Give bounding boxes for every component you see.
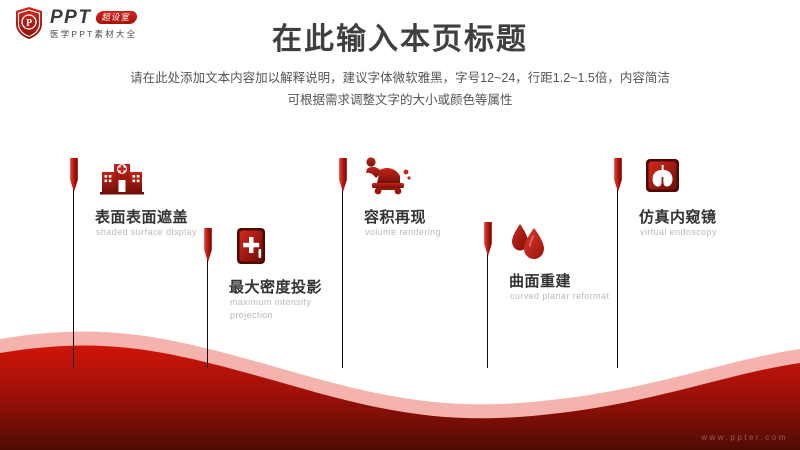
map-pin-icon (203, 228, 213, 262)
feature-label-en-line1: volume rendering (365, 226, 475, 239)
medical-kit-icon (233, 226, 279, 266)
map-pin-icon (483, 222, 493, 256)
feature-label-en: shaded surface display (96, 226, 206, 239)
wave-decoration (0, 315, 800, 450)
page-title: 在此输入本页标题 (0, 14, 800, 58)
feature-label-en: maximum intensity projection (230, 296, 340, 322)
feature-label-en: curved planar reformat (510, 290, 640, 303)
feature-label-en-line2: projection (230, 309, 340, 322)
feature-label-en: volume rendering (365, 226, 475, 239)
subtitle-line-1: 请在此处添加文本内容加以解释说明，建议字体微软雅黑，字号12~24，行距1.2~… (0, 68, 800, 90)
map-pin-icon (338, 158, 348, 192)
map-pin-icon (613, 158, 623, 192)
hospital-building-icon (99, 158, 145, 198)
ct-scanner-patient-icon (362, 156, 408, 196)
feature-label-en: virtual endoscopy (640, 226, 750, 239)
feature-label-cn: 表面表面遮盖 (95, 206, 188, 227)
subtitle-line-2: 可根据需求调整文字的大小或颜色等属性 (0, 90, 800, 112)
page-subtitle: 请在此处添加文本内容加以解释说明，建议字体微软雅黑，字号12~24，行距1.2~… (0, 68, 800, 112)
feature-label-en-line1: shaded surface display (96, 226, 206, 239)
feature-label-cn: 容积再现 (364, 206, 426, 227)
map-pin-icon (69, 158, 79, 192)
feature-label-cn: 最大密度投影 (229, 276, 322, 297)
feature-label-en-line1: curved planar reformat (510, 290, 640, 303)
feature-label-en-line1: virtual endoscopy (640, 226, 750, 239)
site-watermark: www.ppter.com (701, 433, 788, 442)
lungs-icon (643, 156, 689, 196)
feature-label-cn: 仿真内窥镜 (639, 206, 717, 227)
blood-drops-icon (509, 220, 555, 260)
feature-label-en-line1: maximum intensity (230, 296, 340, 309)
feature-label-cn: 曲面重建 (509, 270, 571, 291)
